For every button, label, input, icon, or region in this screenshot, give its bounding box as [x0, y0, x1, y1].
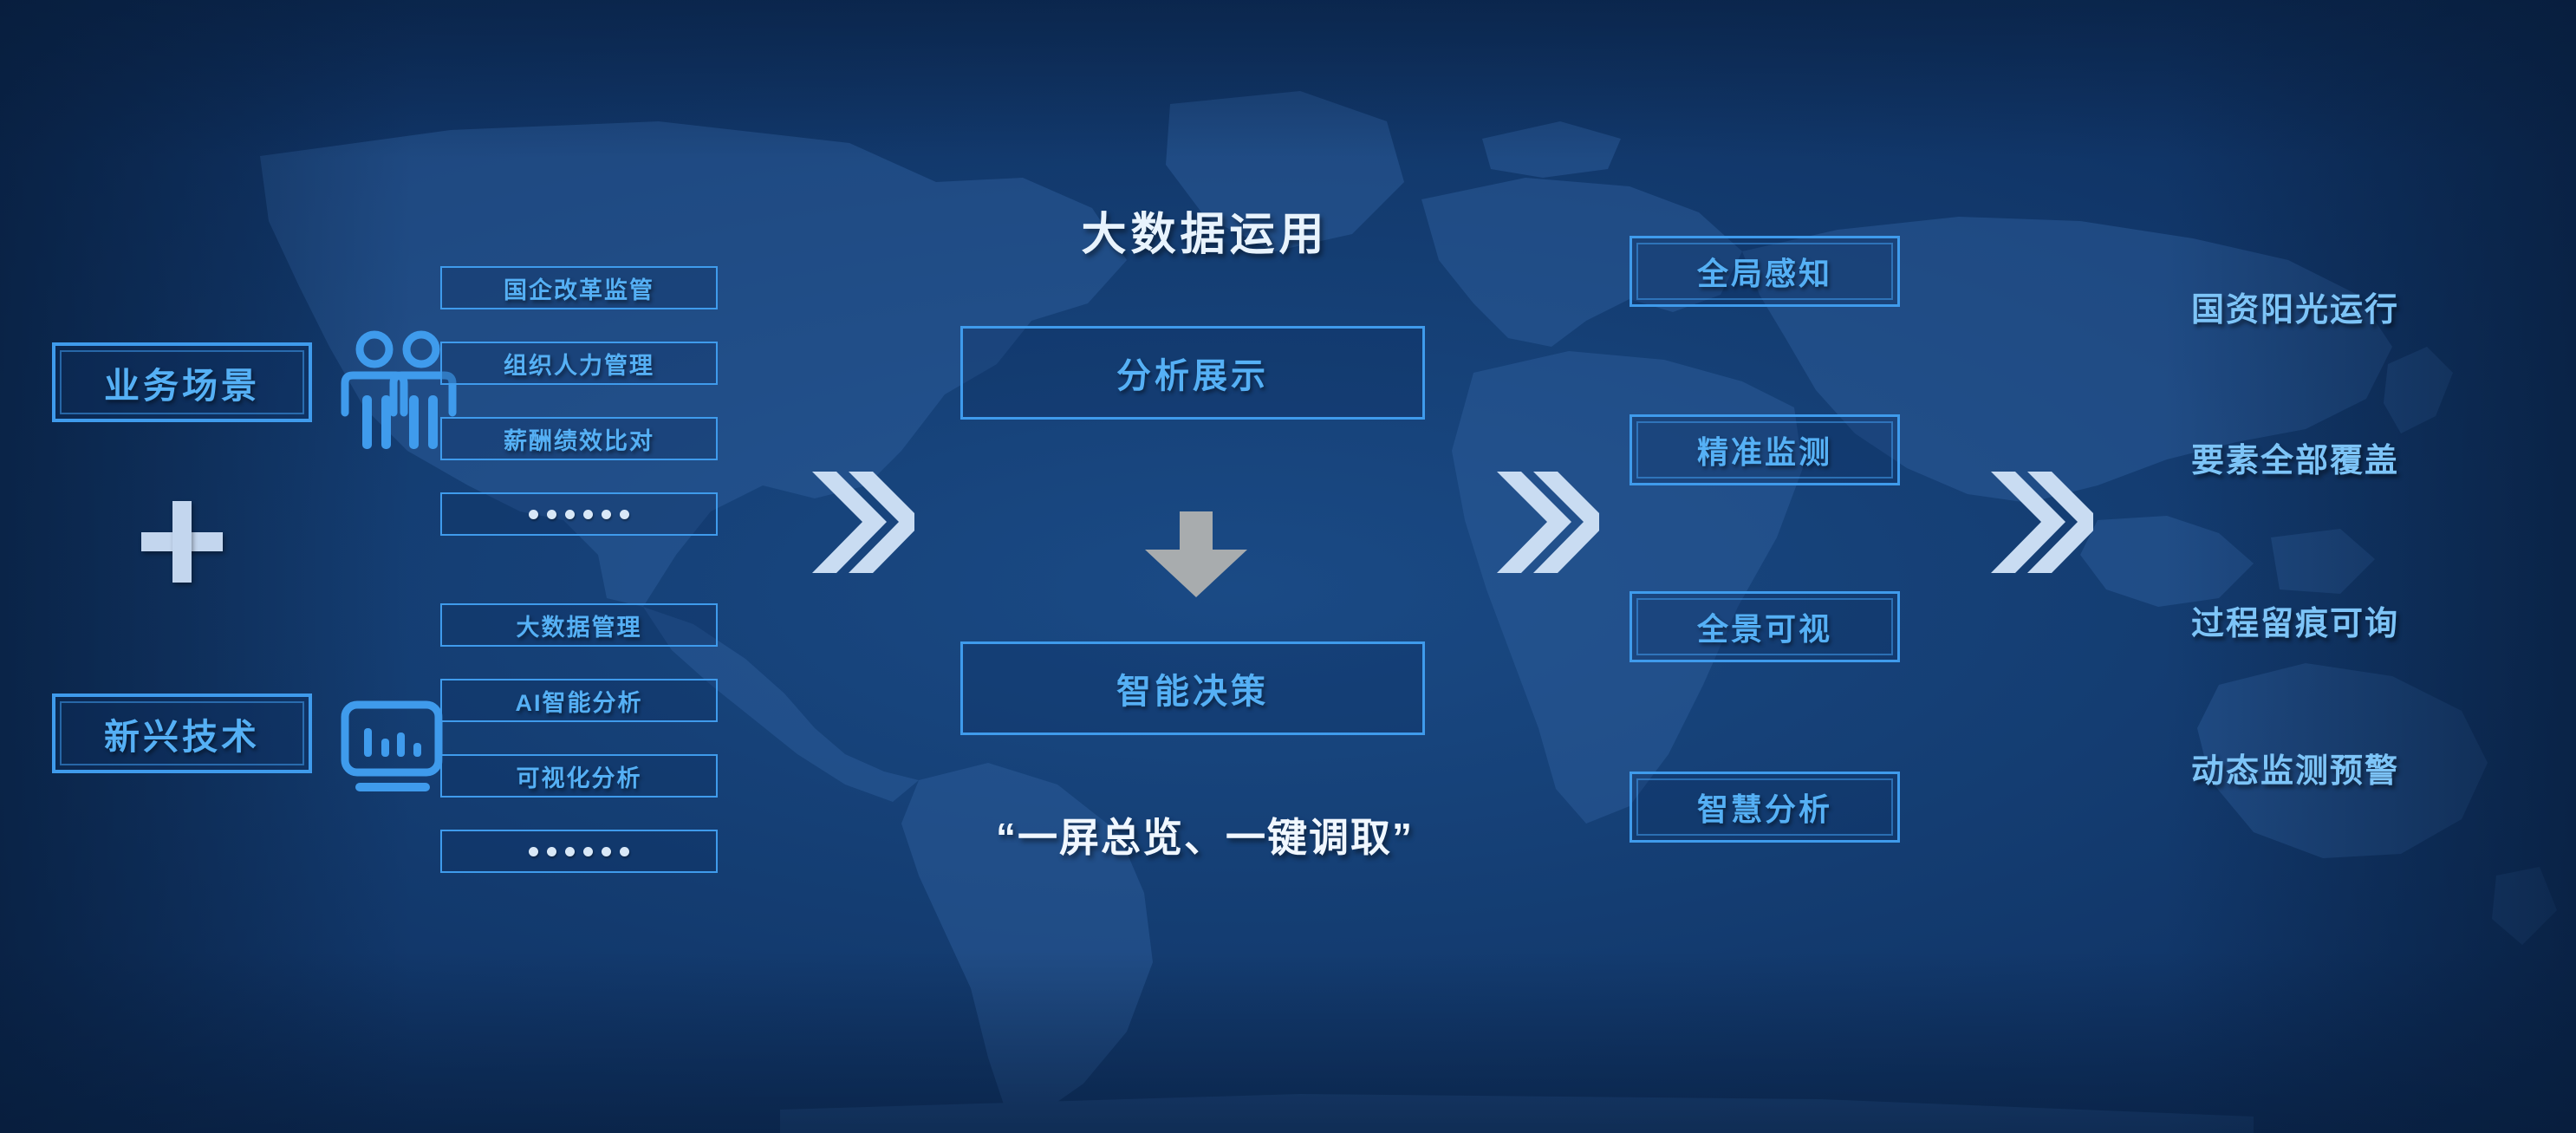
outcome-text: 过程留痕可询 — [2191, 596, 2469, 644]
scenario-label: 薪酬绩效比对 — [504, 422, 654, 456]
plus-icon — [141, 501, 223, 583]
smart-decision-box[interactable]: 智能决策 — [960, 641, 1425, 735]
scenario-label: 国企改革监管 — [504, 271, 654, 305]
business-scenario-box[interactable]: 业务场景 — [52, 342, 312, 422]
list-item[interactable]: 国企改革监管 — [440, 266, 718, 309]
analysis-display-box[interactable]: 分析展示 — [960, 326, 1425, 420]
scenario-label: 组织人力管理 — [504, 347, 654, 381]
technology-label: 可视化分析 — [517, 759, 642, 793]
technology-label: 大数据管理 — [517, 609, 642, 642]
smart-decision-label: 智能决策 — [1116, 663, 1269, 713]
slide-canvas: 业务场景 新兴技术 — [0, 0, 2576, 1133]
list-item[interactable]: 组织人力管理 — [440, 342, 718, 385]
page-title: 大数据运用 — [958, 198, 1452, 263]
ellipsis-dots — [529, 510, 629, 519]
result-label: 智慧分析 — [1697, 785, 1832, 830]
emerging-technology-box[interactable]: 新兴技术 — [52, 693, 312, 773]
business-scenario-label: 业务场景 — [104, 356, 260, 408]
double-chevron-right-icon — [1495, 468, 1599, 576]
list-item[interactable]: 薪酬绩效比对 — [440, 417, 718, 460]
list-item-ellipsis[interactable] — [440, 830, 718, 873]
ellipsis-dots — [529, 847, 629, 856]
technology-label: AI智能分析 — [516, 684, 643, 718]
list-item-ellipsis[interactable] — [440, 492, 718, 536]
emerging-technology-label: 新兴技术 — [104, 707, 260, 759]
result-box[interactable]: 精准监测 — [1630, 414, 1900, 485]
result-box[interactable]: 智慧分析 — [1630, 772, 1900, 843]
result-label: 精准监测 — [1697, 427, 1832, 472]
list-item[interactable]: AI智能分析 — [440, 679, 718, 722]
outcome-text: 动态监测预警 — [2191, 744, 2469, 791]
outcome-text: 要素全部覆盖 — [2191, 433, 2469, 481]
down-arrow-icon — [1131, 511, 1261, 598]
bar-chart-monitor-icon — [340, 698, 444, 800]
result-label: 全局感知 — [1697, 249, 1832, 294]
result-box[interactable]: 全景可视 — [1630, 591, 1900, 662]
list-item[interactable]: 大数据管理 — [440, 603, 718, 647]
center-caption: “一屏总览、一键调取” — [940, 806, 1469, 863]
outcome-text: 国资阳光运行 — [2191, 283, 2469, 330]
list-item[interactable]: 可视化分析 — [440, 754, 718, 798]
world-map-background — [0, 0, 2576, 1133]
analysis-display-label: 分析展示 — [1116, 348, 1269, 398]
result-box[interactable]: 全局感知 — [1630, 236, 1900, 307]
result-label: 全景可视 — [1697, 604, 1832, 649]
double-chevron-right-icon — [1989, 468, 2093, 576]
double-chevron-right-icon — [810, 468, 914, 576]
